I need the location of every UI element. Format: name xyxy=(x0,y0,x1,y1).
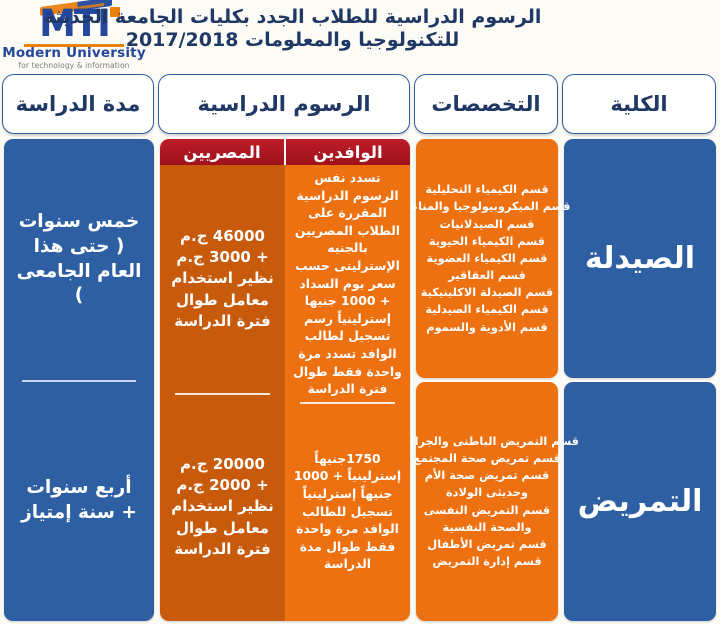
specialization-item: وحديثى الولادة xyxy=(395,484,579,501)
fees-subheader-expatriates: الوافدين xyxy=(286,139,410,165)
duration-pharmacy-text: خمس سنوات( حتى هذاالعام الجامعى ) xyxy=(12,210,146,310)
duration-divider xyxy=(22,380,136,382)
fee-egyptians-nursing-text: 20000 ج.م+ 2000 ج.منظير استخدام معامل طو… xyxy=(168,454,277,560)
fee-egyptians-pharmacy: 46000 ج.م+ 3000 ج.منظير استخدام معامل طو… xyxy=(160,165,285,393)
specializations-card-nursing: قسم التمريض الباطنى والجراحىقسم تمريض صح… xyxy=(416,382,558,621)
specialization-item: والصحة النفسية xyxy=(395,519,579,536)
specialization-item: قسم الكيمياء الصيدلية xyxy=(404,301,571,318)
specialization-item: قسم تمريض الأطفال xyxy=(395,536,579,553)
specialization-item: قسم إدارة التمريض xyxy=(395,553,579,570)
specialization-item: قسم التمريض الباطنى والجراحى xyxy=(395,433,579,450)
specialization-item: قسم الكيمياء العضوية xyxy=(404,250,571,267)
specialization-item: قسم الصيدلة الاكلينيكية xyxy=(404,284,571,301)
fees-subheader-egyptians: المصريين xyxy=(160,139,284,165)
logo-tagline: for technology & information xyxy=(18,61,129,70)
title-line-1: الرسوم الدراسية للطلاب الجدد بكليات الجا… xyxy=(0,6,585,29)
specialization-item: قسم الأدوية والسموم xyxy=(404,319,571,336)
column-headers: الكلية التخصصات الرسوم الدراسية مدة الدر… xyxy=(0,74,720,136)
fee-expatriates-pharmacy: تسدد نفس الرسوم الدراسية المقررة على الط… xyxy=(285,165,410,402)
duration-nursing: أربع سنوات+ سنة إمتياز xyxy=(4,380,154,621)
column-header-duration: مدة الدراسة xyxy=(2,74,154,134)
column-header-specializations: التخصصات xyxy=(414,74,558,134)
specialization-item: قسم تمريض صحة الأم xyxy=(395,467,579,484)
header-bar: MTI Modern University for technology & i… xyxy=(0,0,720,72)
fee-expatriates-nursing-text: 1750جنيهاً إسترلينياً + 1000 جنيهاً إستر… xyxy=(293,450,402,573)
fee-divider-expatriates xyxy=(300,402,395,404)
fees-column-expatriates: تسدد نفس الرسوم الدراسية المقررة على الط… xyxy=(285,165,410,621)
fee-egyptians-pharmacy-text: 46000 ج.م+ 3000 ج.منظير استخدام معامل طو… xyxy=(168,226,277,332)
specialization-list-nursing: قسم التمريض الباطنى والجراحىقسم تمريض صح… xyxy=(395,433,579,570)
duration-card: خمس سنوات( حتى هذاالعام الجامعى ) أربع س… xyxy=(4,139,154,621)
infographic-root: MTI Modern University for technology & i… xyxy=(0,0,720,625)
fees-table: الصيدلة التمريض قسم الكيمياء التحليليةقس… xyxy=(0,139,720,623)
specialization-item: قسم الكيمياء الحيوية xyxy=(404,233,571,250)
fee-egyptians-nursing: 20000 ج.م+ 2000 ج.منظير استخدام معامل طو… xyxy=(160,393,285,621)
specializations-card-pharmacy: قسم الكيمياء التحليليةقسم الميكروبيولوجي… xyxy=(416,139,558,378)
college-card-pharmacy: الصيدلة xyxy=(564,139,716,378)
page-title: الرسوم الدراسية للطلاب الجدد بكليات الجا… xyxy=(0,6,585,52)
specialization-item: قسم الصيدلانيات xyxy=(404,216,571,233)
fees-card: الوافدين المصريين تسدد نفس الرسوم الدراس… xyxy=(160,139,410,621)
specialization-list-pharmacy: قسم الكيمياء التحليليةقسم الميكروبيولوجي… xyxy=(404,181,571,335)
college-card-nursing: التمريض xyxy=(564,382,716,621)
title-line-2: للتكنولوجيا والمعلومات 2017/2018 xyxy=(0,29,585,52)
fees-body: تسدد نفس الرسوم الدراسية المقررة على الط… xyxy=(160,165,410,621)
fees-column-egyptians: 46000 ج.م+ 3000 ج.منظير استخدام معامل طو… xyxy=(160,165,285,621)
fee-divider-egyptians xyxy=(175,393,270,395)
column-header-fees: الرسوم الدراسية xyxy=(158,74,410,134)
specialization-item: قسم الميكروبيولوجيا والمناعة xyxy=(404,198,571,215)
duration-nursing-text: أربع سنوات+ سنة إمتياز xyxy=(21,476,137,526)
specialization-item: قسم تمريض صحة المجتمع xyxy=(395,450,579,467)
column-header-college: الكلية xyxy=(562,74,716,134)
fees-subheader-row: الوافدين المصريين xyxy=(160,139,410,165)
specialization-item: قسم العقاقير xyxy=(404,267,571,284)
duration-pharmacy: خمس سنوات( حتى هذاالعام الجامعى ) xyxy=(4,139,154,380)
fee-expatriates-nursing: 1750جنيهاً إسترلينياً + 1000 جنيهاً إستر… xyxy=(285,402,410,621)
fee-expatriates-pharmacy-text: تسدد نفس الرسوم الدراسية المقررة على الط… xyxy=(293,169,402,398)
specialization-item: قسم التمريض النفسى xyxy=(395,502,579,519)
specialization-item: قسم الكيمياء التحليلية xyxy=(404,181,571,198)
